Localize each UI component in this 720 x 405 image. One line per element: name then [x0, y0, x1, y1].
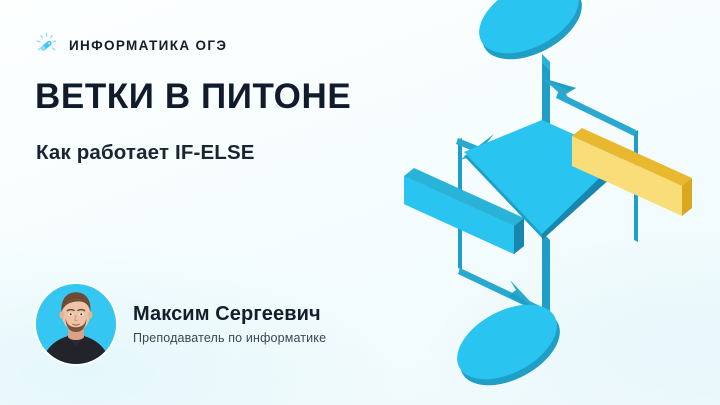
page-subtitle: Как работает IF-ELSE	[36, 141, 255, 165]
presenter-block: Максим Сергеевич Преподаватель по информ…	[36, 284, 326, 364]
isometric-flowchart-illustration	[390, 0, 720, 405]
start-oval	[467, 0, 594, 75]
magic-wand-sparkle-icon	[34, 32, 60, 58]
slide-canvas: ИНФОРМАТИКА ОГЭ ВЕТКИ В ПИТОНЕ Как работ…	[0, 0, 720, 405]
presenter-text: Максим Сергеевич Преподаватель по информ…	[133, 303, 326, 345]
eyebrow-label: ИНФОРМАТИКА ОГЭ	[69, 38, 227, 53]
presenter-role: Преподаватель по информатике	[133, 331, 326, 345]
avatar	[36, 284, 116, 364]
presenter-name: Максим Сергеевич	[133, 303, 326, 326]
end-oval	[445, 289, 572, 400]
true-branch-box	[572, 128, 692, 216]
eyebrow: ИНФОРМАТИКА ОГЭ	[34, 32, 227, 58]
page-title: ВЕТКИ В ПИТОНЕ	[35, 79, 351, 115]
